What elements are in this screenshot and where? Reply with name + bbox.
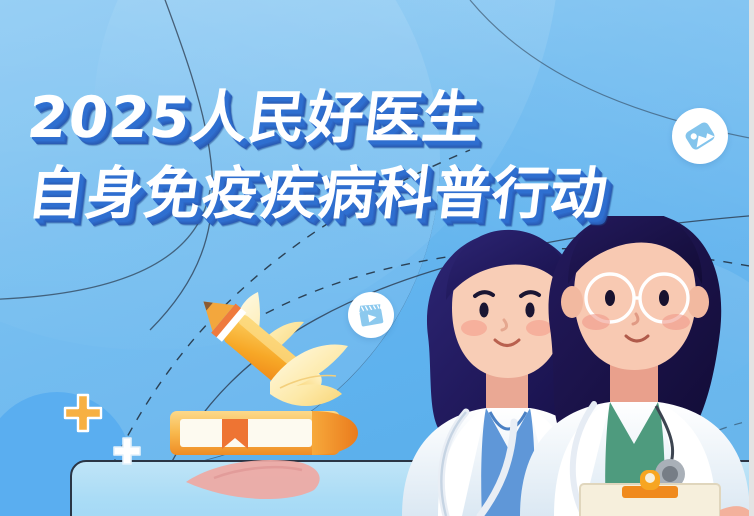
title-line-2: 自身免疫疾病科普行动 [24,158,613,230]
video-clapperboard-glyph [356,300,386,330]
image-icon[interactable] [672,108,728,164]
plus-icon-orange [62,392,104,434]
campaign-poster: 2025人民好医生 自身免疫疾病科普行动 [0,0,754,516]
poster-title: 2025人民好医生 自身免疫疾病科普行动 [28,82,608,230]
video-clapperboard-icon[interactable] [348,292,394,338]
title-line-1: 2025人民好医生 [24,82,613,154]
hand-illustration [180,452,330,504]
doctors-illustration [394,216,754,516]
image-icon-glyph [682,118,718,154]
plus-icon-white [112,436,142,466]
right-edge-strip [749,0,754,516]
